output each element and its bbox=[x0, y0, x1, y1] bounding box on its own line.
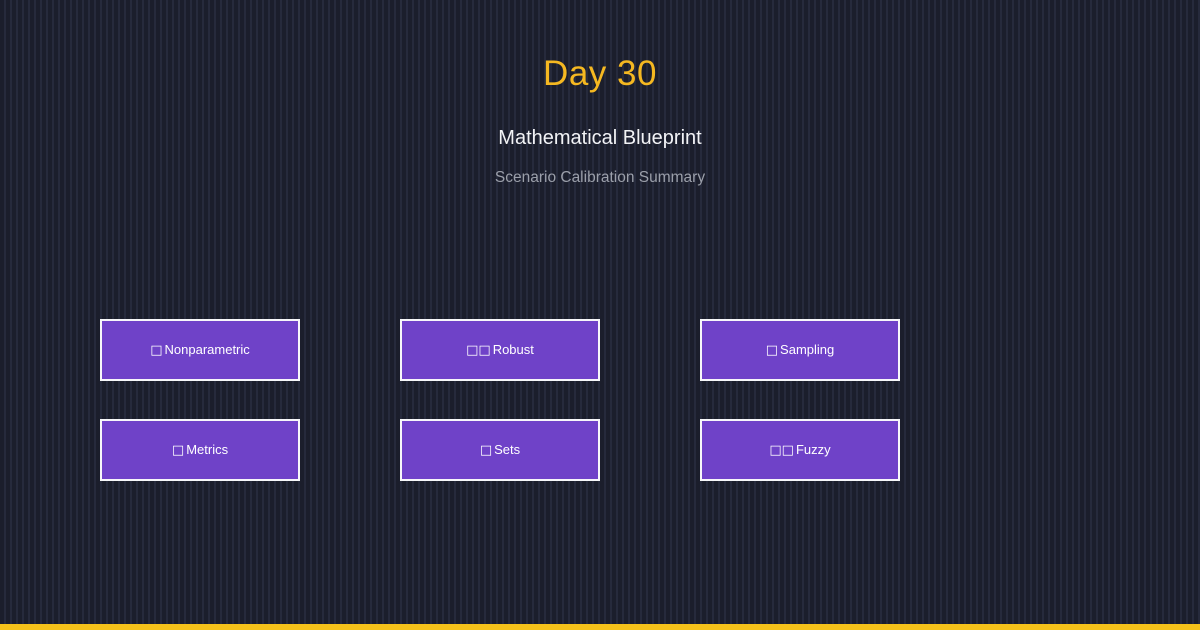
card-fuzzy[interactable]: □□Fuzzy bbox=[700, 419, 900, 481]
card-label-text: Sampling bbox=[780, 342, 834, 357]
card-label-text: Robust bbox=[493, 342, 534, 357]
card-label: □□Robust bbox=[466, 343, 534, 357]
card-robust[interactable]: □□Robust bbox=[400, 319, 600, 381]
page-subtitle: Mathematical Blueprint bbox=[0, 91, 1200, 148]
tofu-glyph-icon: □ bbox=[150, 344, 162, 357]
tofu-glyph-double-icon: □□ bbox=[466, 344, 491, 357]
card-label-text: Nonparametric bbox=[165, 342, 250, 357]
slide-canvas: Day 30 Mathematical Blueprint Scenario C… bbox=[0, 0, 1200, 630]
card-metrics[interactable]: □Metrics bbox=[100, 419, 300, 481]
tofu-glyph-icon: □ bbox=[480, 444, 492, 457]
card-label: □Nonparametric bbox=[150, 343, 250, 357]
card-label-text: Fuzzy bbox=[796, 442, 831, 457]
tofu-glyph-icon: □ bbox=[172, 444, 184, 457]
card-sampling[interactable]: □Sampling bbox=[700, 319, 900, 381]
bottom-accent-bar bbox=[0, 624, 1200, 630]
header-block: Day 30 Mathematical Blueprint Scenario C… bbox=[0, 0, 1200, 186]
card-sets[interactable]: □Sets bbox=[400, 419, 600, 481]
card-label: □Sets bbox=[480, 443, 520, 457]
card-label: □Metrics bbox=[172, 443, 228, 457]
card-label-text: Sets bbox=[494, 442, 520, 457]
card-label: □Sampling bbox=[766, 343, 835, 357]
page-caption: Scenario Calibration Summary bbox=[0, 148, 1200, 186]
tofu-glyph-double-icon: □□ bbox=[769, 444, 794, 457]
card-grid: □Nonparametric □□Robust □Sampling □Metri… bbox=[100, 319, 900, 481]
card-nonparametric[interactable]: □Nonparametric bbox=[100, 319, 300, 381]
card-label-text: Metrics bbox=[186, 442, 228, 457]
card-label: □□Fuzzy bbox=[769, 443, 830, 457]
tofu-glyph-icon: □ bbox=[766, 344, 778, 357]
page-title: Day 30 bbox=[0, 0, 1200, 91]
